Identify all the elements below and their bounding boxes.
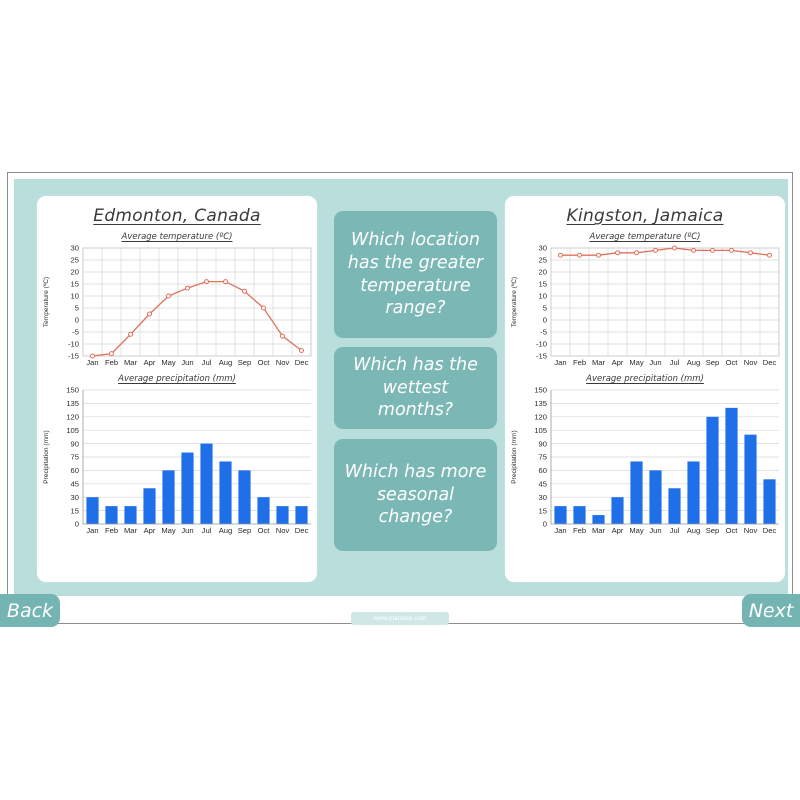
location-panel-edmonton: Edmonton, Canada Average temperature (ºC…	[36, 195, 318, 583]
next-button[interactable]: Next	[742, 594, 800, 627]
svg-text:150: 150	[66, 386, 79, 395]
watermark: www.planbee.com	[351, 612, 449, 625]
svg-text:-5: -5	[72, 328, 79, 337]
svg-text:Nov: Nov	[744, 358, 758, 367]
svg-text:Apr: Apr	[612, 526, 624, 535]
svg-text:Feb: Feb	[573, 358, 586, 367]
svg-text:Mar: Mar	[124, 526, 138, 535]
svg-text:90: 90	[539, 439, 547, 448]
svg-text:Sep: Sep	[238, 526, 252, 535]
svg-text:20: 20	[71, 268, 79, 277]
svg-text:Jun: Jun	[181, 358, 193, 367]
edmonton-temperature: 302520151050-5-10-15JanFebMarAprMayJunJu…	[37, 242, 319, 374]
svg-text:Mar: Mar	[124, 358, 138, 367]
svg-text:Apr: Apr	[144, 358, 156, 367]
svg-text:Oct: Oct	[726, 358, 739, 367]
svg-text:Feb: Feb	[105, 526, 118, 535]
svg-text:15: 15	[539, 280, 547, 289]
svg-text:90: 90	[71, 439, 79, 448]
svg-text:25: 25	[539, 256, 547, 265]
question-box-1[interactable]: Which location has the greater temperatu…	[334, 211, 497, 338]
question-1-text: Which location has the greater temperatu…	[344, 229, 487, 320]
svg-text:5: 5	[543, 304, 547, 313]
svg-text:Dec: Dec	[763, 526, 777, 535]
svg-text:105: 105	[66, 426, 79, 435]
slide-stage: Edmonton, Canada Average temperature (ºC…	[0, 0, 800, 800]
svg-text:135: 135	[534, 399, 547, 408]
svg-text:May: May	[629, 358, 644, 367]
chart-title-kingston-temperature: Average temperature (ºC)	[505, 232, 785, 242]
svg-text:20: 20	[539, 268, 547, 277]
svg-text:Dec: Dec	[295, 358, 309, 367]
svg-text:Jan: Jan	[86, 526, 98, 535]
svg-text:Jul: Jul	[202, 526, 212, 535]
svg-text:0: 0	[543, 316, 547, 325]
svg-text:-10: -10	[68, 340, 79, 349]
page-title-edmonton: Edmonton, Canada	[37, 206, 317, 226]
svg-text:Mar: Mar	[592, 358, 606, 367]
question-box-3[interactable]: Which has more seasonal change?	[334, 439, 497, 551]
back-button[interactable]: Back	[0, 594, 60, 627]
svg-text:Dec: Dec	[763, 358, 777, 367]
svg-text:135: 135	[66, 399, 79, 408]
back-button-label: Back	[7, 600, 53, 622]
svg-text:Temperature (ºC): Temperature (ºC)	[511, 277, 518, 327]
question-box-2[interactable]: Which has the wettest months?	[334, 347, 497, 429]
kingston-precipitation: 1501351201059075604530150JanFebMarAprMay…	[505, 384, 787, 542]
svg-text:Sep: Sep	[706, 358, 720, 367]
svg-text:Nov: Nov	[276, 526, 290, 535]
svg-text:Sep: Sep	[706, 526, 720, 535]
svg-text:60: 60	[71, 466, 79, 475]
kingston-temperature: 302520151050-5-10-15JanFebMarAprMayJunJu…	[505, 242, 787, 374]
svg-text:15: 15	[539, 506, 547, 515]
svg-text:Jan: Jan	[554, 358, 566, 367]
presentation-slide: Edmonton, Canada Average temperature (ºC…	[7, 172, 793, 624]
watermark-text: www.planbee.com	[373, 615, 426, 622]
svg-text:-5: -5	[540, 328, 547, 337]
svg-text:45: 45	[71, 480, 79, 489]
svg-text:15: 15	[71, 506, 79, 515]
svg-text:-15: -15	[68, 352, 79, 361]
svg-text:Nov: Nov	[276, 358, 290, 367]
svg-text:Jan: Jan	[554, 526, 566, 535]
svg-text:Jan: Jan	[86, 358, 98, 367]
chart-edmonton-precipitation: 1501351201059075604530150JanFebMarAprMay…	[37, 384, 319, 542]
svg-text:0: 0	[75, 520, 79, 529]
svg-text:Apr: Apr	[144, 526, 156, 535]
svg-text:Dec: Dec	[295, 526, 309, 535]
svg-text:Precipitation (mm): Precipitation (mm)	[511, 430, 518, 484]
svg-text:May: May	[629, 526, 644, 535]
svg-text:Nov: Nov	[744, 526, 758, 535]
svg-text:0: 0	[543, 520, 547, 529]
svg-text:Oct: Oct	[258, 358, 271, 367]
svg-text:Aug: Aug	[219, 526, 233, 535]
svg-text:5: 5	[75, 304, 79, 313]
svg-text:Aug: Aug	[219, 358, 233, 367]
svg-text:30: 30	[539, 244, 547, 253]
svg-text:Precipitation (mm): Precipitation (mm)	[43, 430, 50, 484]
chart-title-edmonton-precipitation: Average precipitation (mm)	[37, 374, 317, 384]
svg-text:-10: -10	[536, 340, 547, 349]
svg-text:10: 10	[71, 292, 79, 301]
svg-text:Oct: Oct	[258, 526, 271, 535]
chart-title-kingston-precipitation: Average precipitation (mm)	[505, 374, 785, 384]
svg-text:Apr: Apr	[612, 358, 624, 367]
svg-text:Jul: Jul	[202, 358, 212, 367]
svg-text:120: 120	[66, 413, 79, 422]
svg-text:Feb: Feb	[105, 358, 118, 367]
svg-text:May: May	[161, 526, 176, 535]
svg-text:60: 60	[539, 466, 547, 475]
svg-text:Jun: Jun	[181, 526, 193, 535]
svg-text:25: 25	[71, 256, 79, 265]
svg-text:75: 75	[539, 453, 547, 462]
location-panel-kingston: Kingston, Jamaica Average temperature (º…	[504, 195, 786, 583]
svg-text:Sep: Sep	[238, 358, 252, 367]
svg-text:Jul: Jul	[670, 358, 680, 367]
svg-text:Aug: Aug	[687, 526, 701, 535]
svg-text:30: 30	[71, 244, 79, 253]
svg-text:Oct: Oct	[726, 526, 739, 535]
svg-text:May: May	[161, 358, 176, 367]
svg-text:15: 15	[71, 280, 79, 289]
svg-text:Jul: Jul	[670, 526, 680, 535]
page-title-kingston: Kingston, Jamaica	[505, 206, 785, 226]
slide-background: Edmonton, Canada Average temperature (ºC…	[14, 179, 788, 596]
chart-title-edmonton-temperature: Average temperature (ºC)	[37, 232, 317, 242]
chart-kingston-precipitation: 1501351201059075604530150JanFebMarAprMay…	[505, 384, 787, 542]
svg-text:120: 120	[534, 413, 547, 422]
svg-text:-15: -15	[536, 352, 547, 361]
svg-text:Aug: Aug	[687, 358, 701, 367]
svg-text:0: 0	[75, 316, 79, 325]
svg-text:150: 150	[534, 386, 547, 395]
next-button-label: Next	[749, 600, 794, 622]
svg-text:30: 30	[539, 493, 547, 502]
question-3-text: Which has more seasonal change?	[344, 461, 487, 529]
svg-text:Mar: Mar	[592, 526, 606, 535]
svg-text:45: 45	[539, 480, 547, 489]
svg-text:10: 10	[539, 292, 547, 301]
chart-kingston-temperature: 302520151050-5-10-15JanFebMarAprMayJunJu…	[505, 242, 787, 374]
svg-text:105: 105	[534, 426, 547, 435]
svg-text:Feb: Feb	[573, 526, 586, 535]
edmonton-precipitation: 1501351201059075604530150JanFebMarAprMay…	[37, 384, 319, 542]
svg-text:Temperature (ºC): Temperature (ºC)	[43, 277, 50, 327]
chart-edmonton-temperature: 302520151050-5-10-15JanFebMarAprMayJunJu…	[37, 242, 319, 374]
svg-text:Jun: Jun	[649, 526, 661, 535]
svg-text:Jun: Jun	[649, 358, 661, 367]
svg-text:75: 75	[71, 453, 79, 462]
svg-text:30: 30	[71, 493, 79, 502]
question-2-text: Which has the wettest months?	[344, 354, 487, 422]
